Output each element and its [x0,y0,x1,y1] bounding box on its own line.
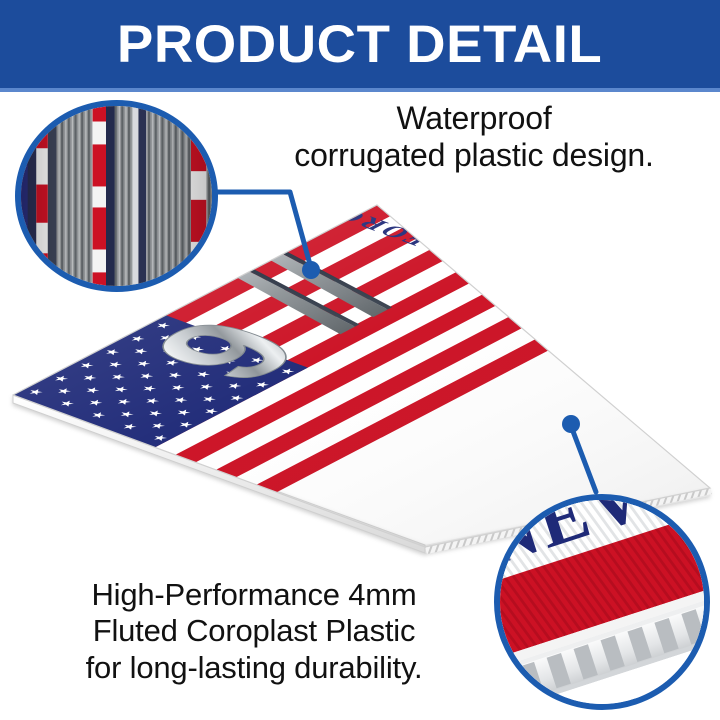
caption-coroplast-line1: High-Performance 4mm [8,577,500,613]
header-banner: PRODUCT DETAIL [0,0,720,88]
caption-coroplast-line3: for long-lasting durability. [8,650,500,686]
caption-waterproof: Waterproof corrugated plastic design. [228,100,720,175]
caption-coroplast-line2: Fluted Coroplast Plastic [8,613,500,649]
header-divider [0,88,720,92]
corrugated-flutes-zoom-image [21,106,212,286]
infographic-canvas: PRODUCT DETAIL [0,0,720,720]
fluted-edge-zoom-image: NEV [500,500,704,704]
callout-fluted-edge: NEV [494,494,710,710]
caption-waterproof-line1: Waterproof [228,100,720,137]
caption-coroplast: High-Performance 4mm Fluted Coroplast Pl… [8,577,500,686]
callout-corrugated-flutes [15,100,218,292]
page-title: PRODUCT DETAIL [117,18,602,71]
caption-waterproof-line2: corrugated plastic design. [228,137,720,174]
